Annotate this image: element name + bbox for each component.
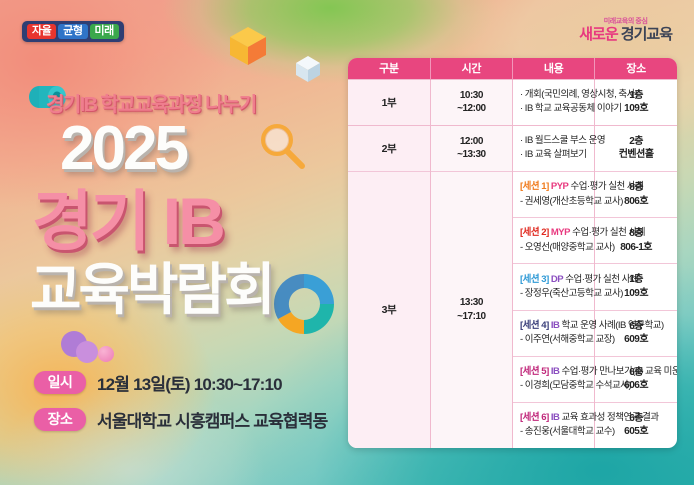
date-label: 일시 <box>34 371 86 393</box>
magnifier-icon <box>258 122 306 170</box>
schedule-table: 구분 시간 내용 장소 1부10:30~12:00· 개회(국민의례, 영상시청… <box>348 58 677 448</box>
cell-place: 2층컨벤션홀 <box>595 125 677 171</box>
header-part: 구분 <box>348 58 430 79</box>
cell-content: [세션 5] IB 수업·평가 만나보기(IB 교육 미운영교 대상)- 이경희… <box>513 356 595 402</box>
cell-time: 12:00~13:30 <box>430 125 512 171</box>
cell-content: · IB 월드스쿨 부스 운영· IB 교육 살펴보기 <box>513 125 595 171</box>
cell-place: 8층806호 <box>595 171 677 217</box>
date-value: 12월 13일(토) 10:30~17:10 <box>97 370 282 395</box>
table-row: 1부10:30~12:00· 개회(국민의례, 영상시청, 축사)· IB 학교… <box>348 79 677 125</box>
poster-left-panel: 자율 균형 미래 경기IB 학교교육과정 나누기 2025 경기 IB 교육박람… <box>0 0 342 485</box>
hero-title-sub: 교육박람회 <box>30 262 273 318</box>
place-label: 장소 <box>34 408 86 430</box>
event-info-block: 일시 12월 13일(토) 10:30~17:10 장소 서울대학교 시흥캠퍼스… <box>34 370 327 444</box>
hero-subtitle: 경기IB 학교교육과정 나누기 <box>46 88 256 117</box>
cell-content: [세션 3] DP 수업·평가 실천 사례- 장정우(죽산고등학교 교사) <box>513 264 595 310</box>
table-row: 2부12:00~13:30· IB 월드스쿨 부스 운영· IB 교육 살펴보기… <box>348 125 677 171</box>
cell-time: 10:30~12:00 <box>430 79 512 125</box>
logo-name: 새로운 경기교육 <box>579 27 672 44</box>
hero-year: 2025 <box>60 118 186 180</box>
table-body: 1부10:30~12:00· 개회(국민의례, 영상시청, 축사)· IB 학교… <box>348 79 677 448</box>
schedule-table-container: 구분 시간 내용 장소 1부10:30~12:00· 개회(국민의례, 영상시청… <box>348 58 677 448</box>
cell-part: 2부 <box>348 125 430 171</box>
gyeonggi-education-logo: 미래교육의 중심 새로운 경기교육 <box>579 18 672 44</box>
cell-part: 3부 <box>348 171 430 448</box>
cell-place: 8층806-1호 <box>595 218 677 264</box>
cell-time: 13:30~17:10 <box>430 171 512 448</box>
table-header-row: 구분 시간 내용 장소 <box>348 58 677 79</box>
logo-name-rest: 경기교육 <box>618 26 672 43</box>
cell-content: [세션 6] IB 교육 효과성 정책연구 결과- 송진웅(서울대학교 교수) <box>513 402 595 448</box>
slogan-part-3: 미래 <box>90 24 119 39</box>
slogan-part-1: 자율 <box>27 24 56 39</box>
cell-part: 1부 <box>348 79 430 125</box>
slogan-badge: 자율 균형 미래 <box>22 21 124 42</box>
header-content: 내용 <box>513 58 595 79</box>
cell-content: [세션 1] PYP 수업·평가 실천 사례- 권세영(개산초등학교 교사) <box>513 171 595 217</box>
event-date-row: 일시 12월 13일(토) 10:30~17:10 <box>34 370 327 395</box>
hero-title-main: 경기 IB <box>32 188 223 254</box>
cell-content: [세션 2] MYP 수업·평가 실천 사례- 오영선(매양중학교 교사) <box>513 218 595 264</box>
place-value: 서울대학교 시흥캠퍼스 교육협력동 <box>97 407 327 432</box>
logo-name-accent: 새로운 <box>579 26 617 43</box>
slogan-part-2: 균형 <box>58 24 87 39</box>
header-place: 장소 <box>595 58 677 79</box>
cell-place: 1층109호 <box>595 264 677 310</box>
header-time: 시간 <box>430 58 512 79</box>
event-place-row: 장소 서울대학교 시흥캠퍼스 교육협력동 <box>34 407 327 432</box>
logo-tagline-text: 미래교육의 중심 <box>604 18 648 25</box>
cell-content: [세션 4] IB 학교 운영 사례(IB 연구학교)- 이주연(서해중학교 교… <box>513 310 595 356</box>
cell-content: · 개회(국민의례, 영상시청, 축사)· IB 학교 교육공동체 이야기 <box>513 79 595 125</box>
table-row: 3부13:30~17:10[세션 1] PYP 수업·평가 실천 사례- 권세영… <box>348 171 677 217</box>
logo-tagline: 미래교육의 중심 <box>579 18 672 25</box>
